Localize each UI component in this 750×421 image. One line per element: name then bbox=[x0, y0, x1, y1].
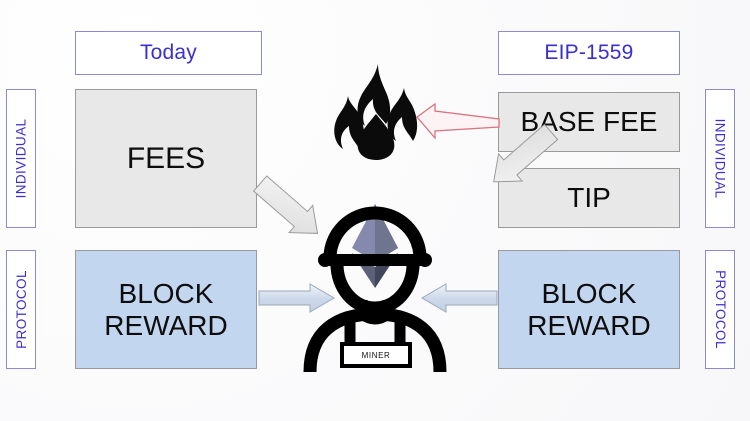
tip-to-miner-arrow bbox=[408, 164, 502, 238]
today-title-box: Today bbox=[75, 31, 262, 75]
right-block-reward-box: BLOCK REWARD bbox=[498, 250, 680, 369]
today-title-label: Today bbox=[140, 41, 197, 65]
left-block-reward-line2: REWARD bbox=[104, 310, 227, 341]
flame-icon bbox=[330, 62, 422, 162]
eip1559-title-box: EIP-1559 bbox=[498, 31, 680, 75]
rail-right-protocol-label: PROTOCOL bbox=[713, 270, 728, 349]
diagram-canvas: Today EIP-1559 INDIVIDUAL PROTOCOL INDIV… bbox=[0, 0, 750, 421]
rail-right-individual: INDIVIDUAL bbox=[705, 89, 735, 228]
fees-box: FEES bbox=[75, 89, 257, 228]
eip1559-title-label: EIP-1559 bbox=[544, 41, 633, 65]
right-block-reward-arrow bbox=[414, 282, 498, 314]
rail-left-individual: INDIVIDUAL bbox=[6, 89, 36, 228]
tip-box: TIP bbox=[498, 168, 680, 228]
left-block-reward-line1: BLOCK bbox=[104, 278, 227, 309]
tip-label: TIP bbox=[567, 182, 611, 213]
fees-label: FEES bbox=[127, 142, 205, 176]
right-block-reward-line1: BLOCK bbox=[527, 278, 650, 309]
miner-nameplate-label: MINER bbox=[344, 346, 408, 364]
base-fee-to-flame-arrow bbox=[415, 100, 501, 142]
left-block-reward-arrow bbox=[258, 282, 336, 314]
rail-right-individual-label: INDIVIDUAL bbox=[713, 119, 728, 199]
rail-right-protocol: PROTOCOL bbox=[705, 250, 735, 369]
fees-to-miner-arrow bbox=[256, 164, 346, 236]
rail-left-protocol-label: PROTOCOL bbox=[14, 270, 29, 349]
left-block-reward-box: BLOCK REWARD bbox=[75, 250, 257, 369]
right-block-reward-line2: REWARD bbox=[527, 310, 650, 341]
rail-left-protocol: PROTOCOL bbox=[6, 250, 36, 369]
rail-left-individual-label: INDIVIDUAL bbox=[14, 119, 29, 199]
